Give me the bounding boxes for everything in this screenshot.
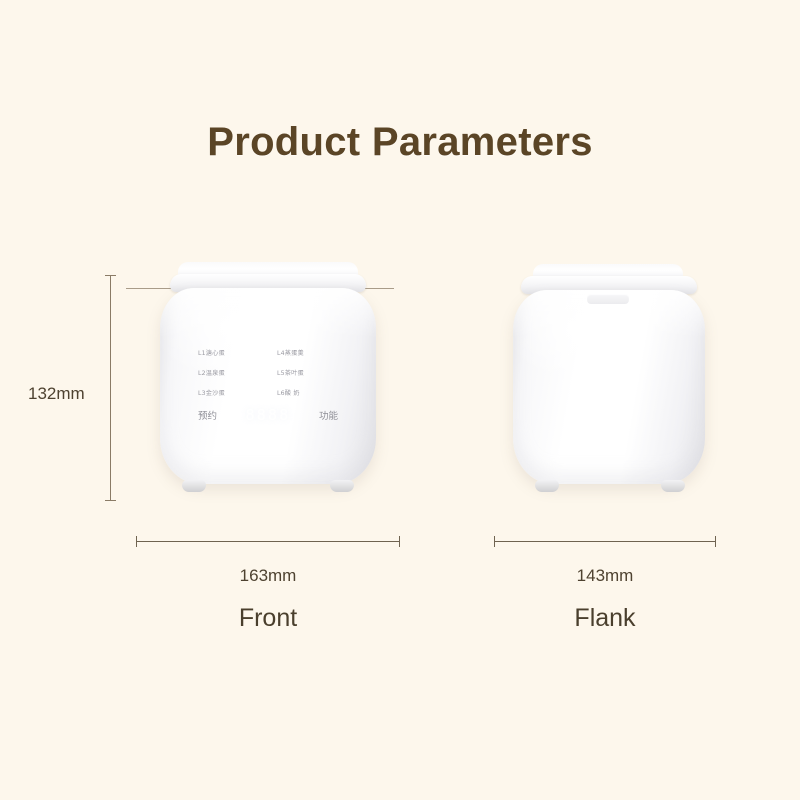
page-title: Product Parameters	[0, 120, 800, 165]
function-button[interactable]: 功能	[319, 408, 338, 422]
height-line-cap-top	[105, 275, 116, 276]
front-width-cap-left	[136, 536, 137, 547]
product-parameters-page: Product Parameters 132mm L1溏心蛋 L4蒸蛋羹 L2温…	[0, 0, 800, 800]
preset-item-l4[interactable]: L4蒸蛋羹	[277, 348, 304, 357]
preset-item-l2[interactable]: L2温泉蛋	[198, 368, 259, 377]
height-dimension-label: 132mm	[28, 384, 85, 404]
flank-view-caption: Flank	[454, 604, 756, 633]
preset-item-l5[interactable]: L5茶叶蛋	[277, 368, 304, 377]
preset-menu-list: L1溏心蛋 L4蒸蛋羹 L2温泉蛋 L5茶叶蛋 L3金沙蛋 L6酸 奶	[198, 348, 338, 397]
height-dimension-line	[110, 275, 111, 501]
flank-width-cap-right	[715, 536, 716, 547]
control-button-row: 预约 8888 功能	[198, 406, 338, 424]
preset-item-l6[interactable]: L6酸 奶	[277, 388, 300, 397]
flank-width-cap-left	[494, 536, 495, 547]
flank-width-label: 143mm	[454, 566, 756, 586]
height-line-cap-bottom	[105, 500, 116, 501]
flank-width-dimension-line	[494, 541, 716, 542]
control-panel: L1溏心蛋 L4蒸蛋羹 L2温泉蛋 L5茶叶蛋 L3金沙蛋 L6酸 奶 预约 8…	[198, 348, 338, 428]
led-display: 8888	[246, 406, 291, 424]
flank-foot-right	[661, 480, 685, 492]
preset-item-l1[interactable]: L1溏心蛋	[198, 348, 259, 357]
front-width-cap-right	[399, 536, 400, 547]
flank-body	[513, 290, 705, 484]
front-foot-right	[330, 480, 354, 492]
appliance-flank-view	[505, 262, 715, 504]
reserve-button[interactable]: 预约	[198, 408, 217, 422]
flank-body-highlight	[513, 290, 705, 403]
appliance-front-view: L1溏心蛋 L4蒸蛋羹 L2温泉蛋 L5茶叶蛋 L3金沙蛋 L6酸 奶 预约 8…	[148, 262, 388, 504]
front-width-dimension-line	[136, 541, 400, 542]
flank-foot-left	[535, 480, 559, 492]
front-foot-left	[182, 480, 206, 492]
preset-item-l3[interactable]: L3金沙蛋	[198, 388, 259, 397]
flank-handle-tab	[587, 294, 629, 304]
